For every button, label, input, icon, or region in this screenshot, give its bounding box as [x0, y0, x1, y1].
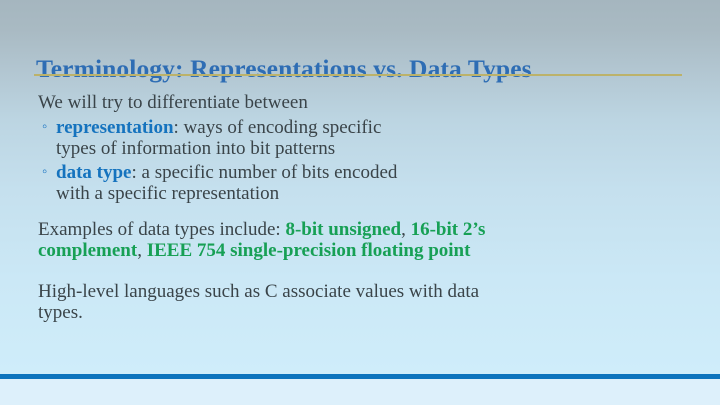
footer-bar: ECE 120: Introduction to Computing © 201…	[0, 379, 720, 405]
example-type-ieee754-single: IEEE 754 single-precision floating point	[147, 240, 471, 261]
closing-line-1: High-level languages such as C associate	[38, 281, 351, 302]
examples-paragraph: Examples of data types include: 8-bit un…	[38, 219, 518, 262]
bullet-item-data-type: ◦data type: a specific number of bits en…	[38, 162, 678, 205]
examples-intro: Examples of data types include:	[38, 219, 285, 240]
lead-text: We will try to differentiate between	[38, 92, 678, 115]
bullet-item-representation: ◦representation: ways of encoding specif…	[38, 117, 678, 160]
example-type-8bit-unsigned: 8-bit unsigned	[285, 219, 401, 240]
examples-separator-2: ,	[137, 240, 147, 261]
bullet-text-representation: : ways of encoding specific	[174, 117, 382, 138]
bullet-term-data-type: data type	[56, 162, 131, 183]
slide: Terminology: Representations vs. Data Ty…	[0, 0, 720, 405]
bullet-marker-icon: ◦	[42, 161, 47, 183]
bullet-text-data-type-line2: with a specific representation	[56, 183, 678, 205]
title-divider	[34, 74, 682, 76]
bullet-text-representation-line2: types of information into bit patterns	[56, 138, 678, 160]
bullet-text-data-type: : a specific number of bits encoded	[131, 162, 397, 183]
bullet-term-representation: representation	[56, 117, 174, 138]
bullet-marker-icon: ◦	[42, 116, 47, 138]
page-title: Terminology: Representations vs. Data Ty…	[36, 53, 696, 85]
slide-body: We will try to differentiate between ◦re…	[38, 92, 678, 343]
closing-paragraph: High-level languages such as C associate…	[38, 281, 508, 324]
examples-separator-1: ,	[401, 219, 411, 240]
